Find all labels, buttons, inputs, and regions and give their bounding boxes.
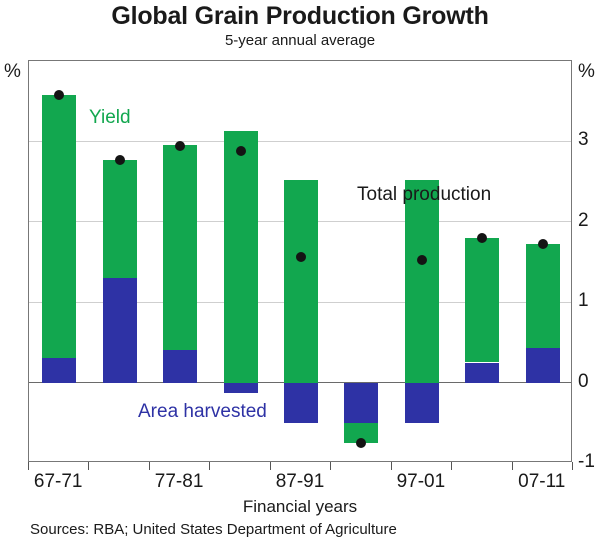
- bar-segment-yield: [224, 131, 258, 383]
- y-tick-label-right-0: 0: [578, 372, 600, 391]
- chart-subtitle: 5-year annual average: [0, 32, 600, 49]
- x-tick-mark: [451, 462, 452, 470]
- total-production-dot: [356, 438, 366, 448]
- gridline-3: [29, 141, 571, 142]
- x-tick-label-67-71: 67-71: [13, 472, 103, 491]
- chart-root: Global Grain Production Growth 5-year an…: [0, 0, 600, 543]
- x-axis-title: Financial years: [0, 497, 600, 517]
- x-tick-mark: [391, 462, 392, 470]
- bar-segment-area-harvested: [344, 383, 378, 423]
- bar-segment-yield: [465, 238, 499, 363]
- bar-segment-area-harvested: [103, 278, 137, 383]
- annotation-yield: Yield: [89, 108, 131, 127]
- x-tick-mark: [330, 462, 331, 470]
- plot-area: Yield Area harvested Total production: [28, 60, 572, 462]
- total-production-dot: [115, 155, 125, 165]
- sources-note: Sources: RBA; United States Department o…: [30, 521, 397, 538]
- annotation-area-harvested: Area harvested: [138, 402, 267, 421]
- total-production-dot: [236, 146, 246, 156]
- bar-segment-area-harvested: [42, 358, 76, 382]
- x-tick-mark: [270, 462, 271, 470]
- bar-segment-area-harvested: [526, 348, 560, 383]
- bar-segment-area-harvested: [465, 363, 499, 383]
- x-tick-mark: [88, 462, 89, 470]
- y-tick-label-right-2: 2: [578, 211, 600, 230]
- y-tick-label-right--1: -1: [578, 452, 600, 471]
- y-axis-unit-left: %: [4, 62, 21, 81]
- x-tick-label-07-11: 07-11: [497, 472, 587, 491]
- bar-segment-yield: [405, 180, 439, 383]
- chart-title: Global Grain Production Growth: [0, 2, 600, 31]
- total-production-dot: [54, 90, 64, 100]
- bar-segment-yield: [526, 244, 560, 349]
- y-tick-label-right-3: 3: [578, 130, 600, 149]
- annotation-total-production: Total production: [357, 185, 491, 204]
- x-tick-mark: [572, 462, 573, 470]
- bar-segment-yield: [103, 160, 137, 278]
- bar-segment-area-harvested: [224, 383, 258, 393]
- x-tick-mark: [512, 462, 513, 470]
- total-production-dot: [538, 239, 548, 249]
- y-axis-unit-right: %: [578, 62, 595, 81]
- bar-segment-yield: [284, 180, 318, 383]
- bar-segment-area-harvested: [405, 383, 439, 423]
- bar-segment-area-harvested: [284, 383, 318, 423]
- bar-segment-yield: [42, 95, 76, 359]
- y-tick-label-right-1: 1: [578, 291, 600, 310]
- bar-segment-yield: [163, 145, 197, 350]
- x-tick-mark: [28, 462, 29, 470]
- x-tick-label-97-01: 97-01: [376, 472, 466, 491]
- x-tick-label-87-91: 87-91: [255, 472, 345, 491]
- x-tick-mark: [149, 462, 150, 470]
- x-tick-label-77-81: 77-81: [134, 472, 224, 491]
- x-tick-mark: [209, 462, 210, 470]
- bar-segment-area-harvested: [163, 350, 197, 382]
